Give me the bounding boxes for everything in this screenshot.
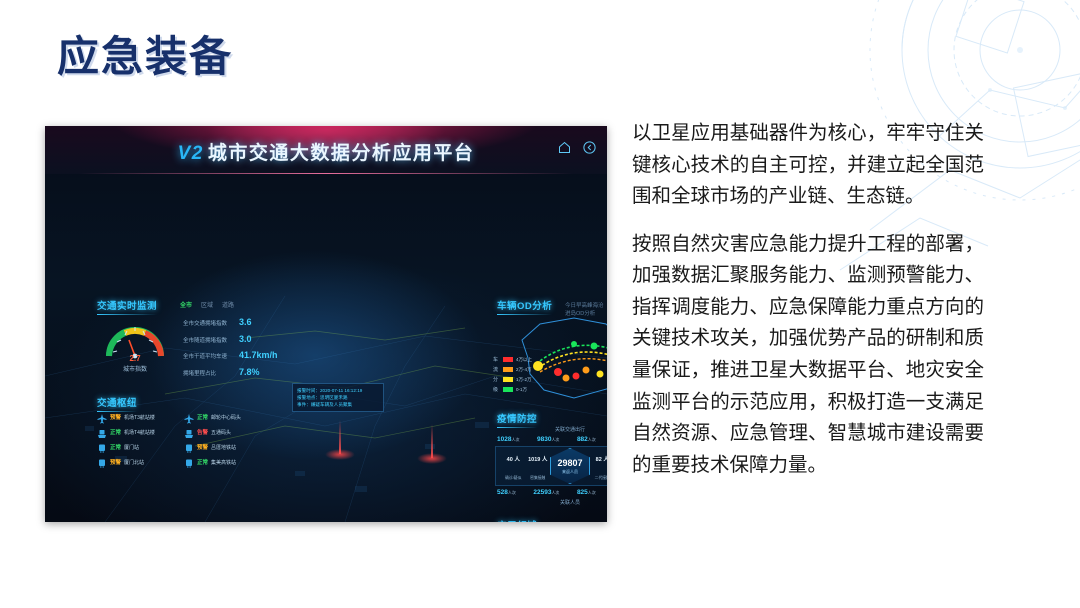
- hub-body: 正常集美高铁站: [197, 458, 265, 466]
- hub-body: 预警机场T3航站楼: [110, 413, 178, 421]
- epidemic-cap-top: 关联交通出行: [495, 426, 607, 433]
- core-value: 29807: [557, 458, 582, 468]
- dashboard-header: V2城市交通大数据分析应用平台: [45, 126, 607, 174]
- hub-body: 预警厦门北站: [110, 458, 178, 466]
- legend-col-char: 分: [493, 376, 500, 383]
- hub-name: 吕厝地铁站: [211, 444, 236, 451]
- alert-time-value: 2020-07-11 16:12:19: [320, 388, 362, 393]
- hub-item[interactable]: 预警吕厝地铁站: [184, 443, 265, 454]
- legend-row: 流 2万-4万: [493, 366, 532, 373]
- hub-item[interactable]: 正常集美高铁站: [184, 458, 265, 469]
- alert-type-label: 事件：: [297, 402, 311, 407]
- ship-icon: [97, 428, 107, 439]
- hub-item[interactable]: 正常厦门站: [97, 443, 178, 454]
- legend-row: 级 0-1万: [493, 386, 532, 393]
- hub-name: 五通码头: [211, 429, 231, 436]
- metric-value: 41.7km/h: [239, 350, 278, 360]
- hub-name: 邮轮中心码头: [211, 414, 241, 421]
- epidemic-stat: 9830人次: [537, 436, 559, 443]
- epidemic-core: 40 人 确诊/疑似 1019 人 密集接触 29807 来返人员 82 人 二…: [495, 446, 607, 486]
- back-icon[interactable]: [582, 140, 597, 155]
- page-title: 应急装备: [57, 34, 233, 80]
- tab-realtime-1[interactable]: 区域: [201, 300, 213, 309]
- legend-col-char: 流: [493, 366, 500, 373]
- legend-text: 4万以上: [516, 357, 532, 363]
- hub-body: 正常邮轮中心码头: [197, 413, 265, 421]
- dashboard-screenshot: V2城市交通大数据分析应用平台 交通实时监测 全市 区域 道路: [45, 126, 607, 522]
- epidemic-stat: 1028人次: [497, 436, 519, 443]
- panel-title-realtime: 交通实时监测: [97, 298, 157, 314]
- hub-status: 预警: [197, 443, 208, 451]
- legend-swatch: [503, 377, 513, 382]
- epidemic-stat: 825人次: [577, 489, 596, 496]
- epidemic-stat: 528人次: [497, 489, 516, 496]
- cell-label: 密集接触: [530, 476, 545, 480]
- epidemic-stat: 22593人次: [533, 489, 559, 496]
- epidemic-panel: 关联交通出行 1028人次 9830人次 882人次 151501人次 40 人…: [495, 426, 607, 506]
- hub-list: 预警机场T3航站楼 正常邮轮中心码头 正常机场T4航站楼: [97, 413, 265, 469]
- hub-body: 告警五通码头: [197, 428, 265, 436]
- hub-item[interactable]: 预警厦门北站: [97, 458, 178, 469]
- legend-swatch: [503, 357, 513, 362]
- dashboard-title-text: 城市交通大数据分析应用平台: [208, 143, 475, 164]
- metric-key: 全市交通拥堵指数: [183, 319, 239, 327]
- hub-status: 正常: [110, 443, 121, 451]
- hub-body: 正常机场T4航站楼: [110, 428, 178, 436]
- platform-logo: V2: [178, 143, 204, 164]
- legend-row: 分 1万-2万: [493, 376, 532, 383]
- map-alert-tooltip: 报警时间：2020-07-11 16:12:19 报警地点：思明区厦禾路 事件：…: [292, 383, 384, 412]
- epidemic-core-hex: 29807 来返人员: [550, 448, 590, 484]
- panel-title-apps: 应用领域: [497, 518, 537, 522]
- hub-item[interactable]: 正常邮轮中心码头: [184, 413, 265, 424]
- cell-value: 82 人: [596, 457, 607, 463]
- metro-icon: [184, 443, 194, 454]
- epidemic-cap-bottom: 关联人员: [495, 499, 607, 506]
- epidemic-cell: 40 人 确诊/疑似: [501, 448, 526, 484]
- gauge-label: 城市指数: [95, 364, 175, 373]
- gauge-value: 2.7: [103, 354, 167, 363]
- legend-text: 1万-2万: [516, 377, 532, 383]
- tab-realtime-2[interactable]: 道路: [222, 300, 234, 309]
- hub-status: 正常: [110, 428, 121, 436]
- metric-value: 3.0: [239, 334, 252, 344]
- hub-status: 预警: [110, 413, 121, 421]
- cell-label: 确诊/疑似: [505, 476, 521, 480]
- epidemic-top-row: 1028人次 9830人次 882人次 151501人次: [497, 436, 607, 443]
- panel-title-epidemic: 疫情防控: [497, 411, 537, 427]
- hub-item[interactable]: 正常机场T4航站楼: [97, 428, 178, 439]
- tab-realtime-0[interactable]: 全市: [180, 300, 192, 309]
- hub-name: 厦门北站: [124, 459, 144, 466]
- epidemic-cell: 82 人 二代接触: [590, 448, 607, 484]
- hub-status: 正常: [197, 413, 208, 421]
- hub-item[interactable]: 告警五通码头: [184, 428, 265, 439]
- body-text: 以卫星应用基础器件为核心，牢牢守住关键核心技术的自主可控，并建立起全国范围和全球…: [632, 118, 984, 481]
- metric-key: 拥堵里程占比: [183, 369, 239, 377]
- legend-text: 0-1万: [516, 387, 527, 393]
- alert-place-label: 报警地点：: [297, 395, 320, 400]
- legend-swatch: [503, 387, 513, 392]
- map-alert-beacon: [415, 422, 449, 464]
- map-alert-beacon: [323, 418, 357, 460]
- hub-body: 预警吕厝地铁站: [197, 443, 265, 451]
- legend-col-char: 级: [493, 386, 500, 393]
- epidemic-bottom-row: 528人次 22593人次 825人次 428878人次: [497, 489, 607, 496]
- metric-key: 全市随道拥堵指数: [183, 336, 239, 344]
- metric-row: 全市干道平均车速 41.7km/h: [183, 350, 291, 360]
- ship-icon: [184, 428, 194, 439]
- metro-icon: [184, 458, 194, 469]
- cell-label: 二代接触: [595, 476, 607, 480]
- metric-value: 7.8%: [239, 367, 260, 377]
- alert-time-label: 报警时间：: [297, 388, 320, 393]
- cell-value: 40 人: [507, 457, 520, 463]
- hub-name: 厦门站: [124, 444, 139, 451]
- realtime-tabs: 全市 区域 道路: [180, 300, 234, 309]
- hub-status: 告警: [197, 428, 208, 436]
- cell-value: 1019 人: [528, 457, 547, 463]
- train-icon: [97, 458, 107, 469]
- plane-icon: [184, 413, 194, 424]
- od-legend: 车 4万以上 流 2万-4万 分 1万-2万 级 0-1万: [493, 356, 532, 396]
- metric-key: 全市干道平均车速: [183, 352, 239, 360]
- metric-row: 全市随道拥堵指数 3.0: [183, 334, 291, 344]
- train-icon: [97, 443, 107, 454]
- legend-row: 车 4万以上: [493, 356, 532, 363]
- body-paragraph-2: 按照自然灾害应急能力提升工程的部署，加强数据汇聚服务能力、监测预警能力、指挥调度…: [632, 229, 984, 482]
- hub-body: 正常厦门站: [110, 443, 178, 451]
- body-paragraph-1: 以卫星应用基础器件为核心，牢牢守住关键核心技术的自主可控，并建立起全国范围和全球…: [632, 118, 984, 213]
- epidemic-cell: 1019 人 密集接触: [526, 448, 551, 484]
- alert-time-row: 报警时间：2020-07-11 16:12:19: [297, 387, 379, 394]
- home-icon[interactable]: [557, 140, 572, 155]
- alert-place-value: 思明区厦禾路: [320, 395, 348, 400]
- metric-value: 3.6: [239, 317, 252, 327]
- plane-icon: [97, 413, 107, 424]
- hub-name: 集美高铁站: [211, 459, 236, 466]
- legend-text: 2万-4万: [516, 367, 532, 373]
- dashboard-title: V2城市交通大数据分析应用平台: [45, 138, 607, 165]
- hub-status: 正常: [197, 458, 208, 466]
- metric-row: 拥堵里程占比 7.8%: [183, 367, 291, 377]
- alert-type-value: 嫌疑车辆及人员聚集: [311, 402, 352, 407]
- alert-type-row: 事件：嫌疑车辆及人员聚集: [297, 401, 379, 408]
- panel-title-hubs: 交通枢纽: [97, 395, 137, 411]
- core-label: 来返人员: [562, 469, 578, 475]
- slide-page: 应急装备: [0, 0, 1080, 608]
- legend-col-char: 车: [493, 356, 500, 363]
- hub-name: 机场T4航站楼: [124, 429, 155, 436]
- hub-status: 预警: [110, 458, 121, 466]
- alert-place-row: 报警地点：思明区厦禾路: [297, 394, 379, 401]
- header-icon-group: [557, 140, 597, 155]
- metric-row: 全市交通拥堵指数 3.6: [183, 317, 291, 327]
- realtime-metrics: 全市交通拥堵指数 3.6 全市随道拥堵指数 3.0 全市干道平均车速 41.7k…: [183, 317, 291, 383]
- hub-name: 机场T3航站楼: [124, 414, 155, 421]
- legend-swatch: [503, 367, 513, 372]
- hub-item[interactable]: 预警机场T3航站楼: [97, 413, 178, 424]
- epidemic-stat: 882人次: [577, 436, 596, 443]
